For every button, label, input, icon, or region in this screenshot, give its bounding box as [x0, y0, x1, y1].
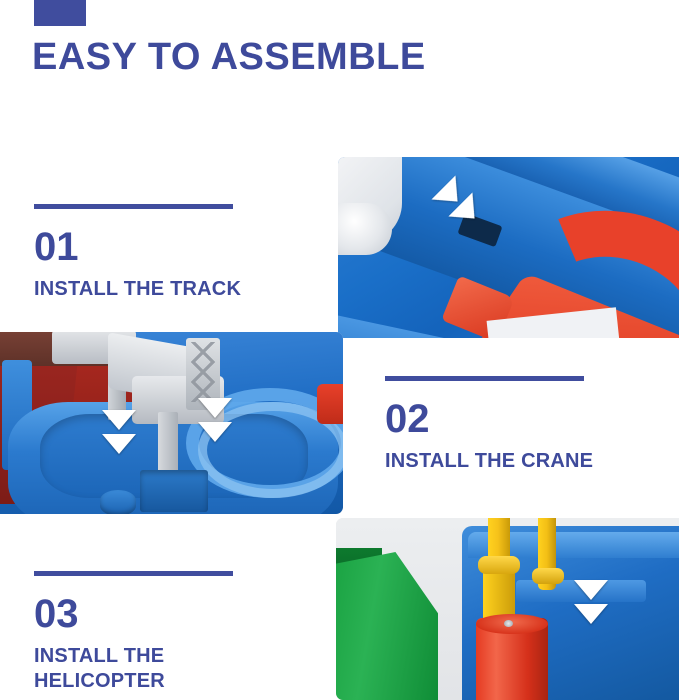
yellow-post-collar [478, 556, 520, 574]
crane-drop-post [158, 412, 178, 478]
step-number: 03 [34, 594, 284, 634]
step-number: 02 [385, 399, 635, 439]
red-track-edge [317, 384, 343, 424]
step-label-line-2: HELICOPTER [34, 669, 284, 694]
chevron-icon [574, 604, 608, 624]
photo-scene [0, 332, 343, 514]
step-rule [385, 376, 584, 381]
step-photo-helicopter [336, 518, 679, 700]
blue-peg-hole [100, 490, 136, 514]
step-label: INSTALL THE CRANE [385, 449, 635, 474]
chevron-down-arrows-icon [102, 410, 136, 454]
crane-mounting-slot [140, 470, 208, 512]
crane-lattice-pattern [190, 342, 216, 402]
step-label-line-1: INSTALL THE [34, 644, 284, 669]
step-block-03: 03 INSTALL THE HELICOPTER [34, 571, 284, 694]
step-label: INSTALL THE TRACK [34, 277, 284, 302]
page-title: EASY TO ASSEMBLE [32, 34, 426, 80]
chevron-icon [198, 422, 232, 442]
step-rule [34, 204, 233, 209]
white-knob-part [338, 203, 392, 255]
chevron-icon [198, 398, 232, 418]
step-rule [34, 571, 233, 576]
step-photo-crane [0, 332, 343, 514]
step-photo-track [338, 157, 679, 338]
chevron-icon [574, 580, 608, 600]
step-number: 01 [34, 227, 284, 267]
chevron-down-arrows-icon [574, 580, 608, 624]
photo-scene [338, 157, 679, 338]
header-accent-square [34, 0, 86, 26]
photo-scene [336, 518, 679, 700]
chevron-icon [102, 410, 136, 430]
chevron-icon [102, 434, 136, 454]
step-block-01: 01 INSTALL THE TRACK [34, 204, 284, 302]
screw-icon [504, 620, 513, 627]
step-block-02: 02 INSTALL THE CRANE [385, 376, 635, 474]
yellow-post-flange [532, 568, 564, 584]
chevron-down-arrows-icon [198, 398, 232, 442]
